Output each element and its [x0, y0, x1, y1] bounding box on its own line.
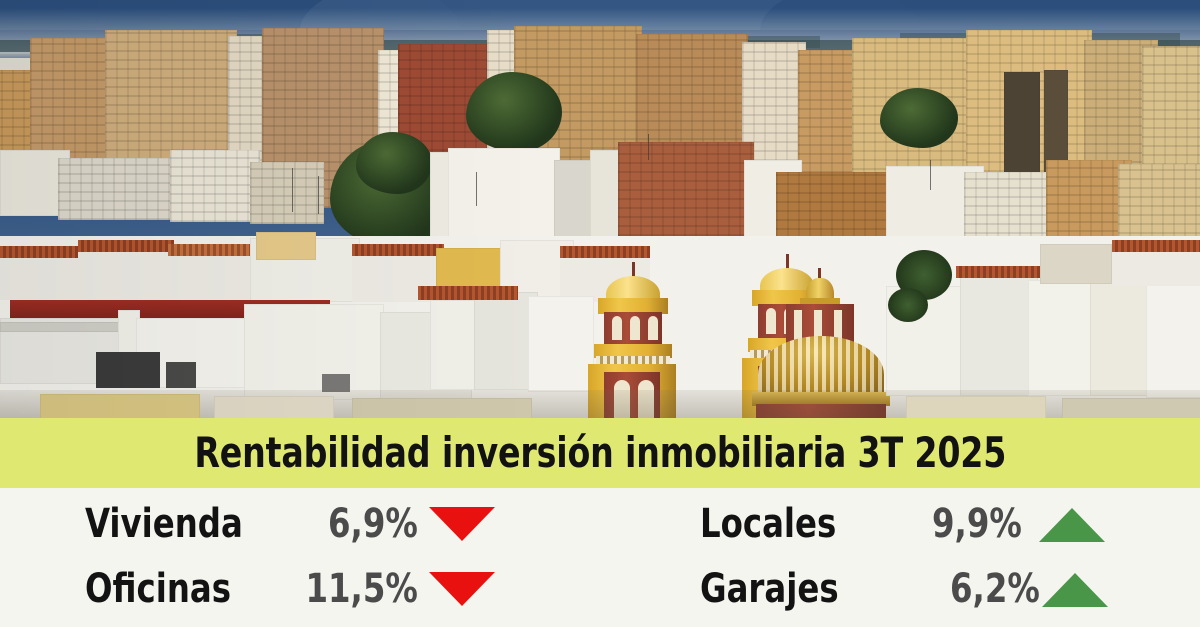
- metric-value-vivienda: 6,9%: [328, 504, 418, 544]
- metric-value-locales: 9,9%: [932, 504, 1022, 544]
- metric-row-vivienda: Vivienda 6,9%: [0, 492, 600, 555]
- triangle-down-icon: [429, 507, 495, 541]
- infographic-card: Rentabilidad inversión inmobiliaria 3T 2…: [0, 0, 1200, 627]
- metric-label-locales: Locales: [700, 504, 836, 544]
- metrics-panel: Vivienda 6,9% Oficinas 11,5% Locales 9,9…: [0, 488, 1200, 627]
- triangle-down-icon: [429, 572, 495, 606]
- metrics-column-left: Vivienda 6,9% Oficinas 11,5%: [0, 488, 600, 627]
- triangle-up-icon: [1042, 573, 1108, 607]
- metric-label-garajes: Garajes: [700, 569, 839, 609]
- metric-value-garajes: 6,2%: [950, 569, 1040, 609]
- title-band: Rentabilidad inversión inmobiliaria 3T 2…: [0, 418, 1200, 488]
- metric-value-oficinas: 11,5%: [306, 569, 418, 609]
- metric-label-oficinas: Oficinas: [85, 569, 231, 609]
- triangle-up-icon: [1039, 508, 1105, 542]
- metric-label-vivienda: Vivienda: [85, 504, 243, 544]
- page-title: Rentabilidad inversión inmobiliaria 3T 2…: [194, 432, 1006, 474]
- metrics-column-right: Locales 9,9% Garajes 6,2%: [600, 488, 1200, 627]
- metric-row-garajes: Garajes 6,2%: [600, 557, 1200, 620]
- metric-row-locales: Locales 9,9%: [600, 492, 1200, 555]
- metric-row-oficinas: Oficinas 11,5%: [0, 557, 600, 620]
- cityscape-photo: [0, 0, 1200, 418]
